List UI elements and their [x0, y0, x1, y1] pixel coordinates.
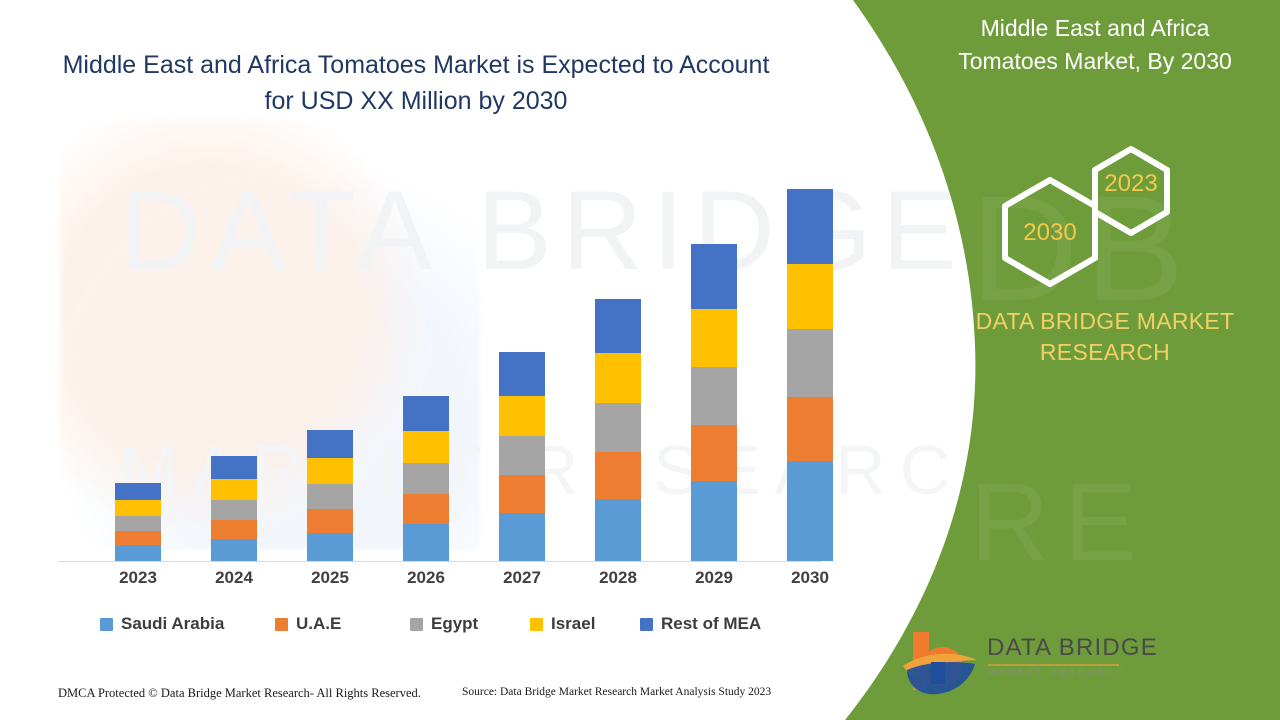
x-axis-label: 2028 [583, 568, 653, 588]
bar-column [499, 352, 545, 561]
bar-segment [211, 539, 257, 561]
bar-segment [691, 481, 737, 561]
bar-segment [403, 524, 449, 561]
bar-segment [595, 452, 641, 499]
bar-segment [307, 509, 353, 533]
legend-label: Egypt [431, 614, 478, 634]
source-note: Source: Data Bridge Market Research Mark… [462, 686, 771, 698]
chart-legend: Saudi ArabiaU.A.EEgyptIsraelRest of MEA [100, 614, 800, 642]
bar-segment [115, 516, 161, 531]
legend-label: Rest of MEA [661, 614, 761, 634]
chart-bars [40, 171, 830, 561]
bar-segment [403, 494, 449, 524]
x-axis-line [58, 561, 822, 562]
page-title: Middle East and Africa Tomatoes Market i… [60, 48, 772, 119]
legend-label: U.A.E [296, 614, 341, 634]
stacked-bar-chart: 20232024202520262027202820292030 [40, 170, 830, 562]
bar-segment [691, 425, 737, 481]
bar-segment [691, 309, 737, 367]
legend-item: Rest of MEA [640, 614, 761, 634]
bar-segment [403, 431, 449, 463]
logo-subtitle: MARKET RESEARCH [988, 667, 1121, 677]
bar-column [595, 299, 641, 561]
dmca-notice: DMCA Protected © Data Bridge Market Rese… [58, 686, 421, 701]
brand-name: DATA BRIDGE MARKET RESEARCH [950, 306, 1260, 368]
bar-segment [403, 396, 449, 431]
green-side-panel: DB RE Middle East and Africa Tomatoes Ma… [820, 0, 1280, 720]
legend-item: Israel [530, 614, 595, 634]
x-axis-label: 2029 [679, 568, 749, 588]
legend-swatch-icon [410, 618, 423, 631]
bar-segment [211, 520, 257, 539]
bar-segment [691, 367, 737, 425]
bar-segment [307, 484, 353, 509]
bar-column [211, 456, 257, 561]
bar-segment [595, 353, 641, 403]
green-panel-title: Middle East and Africa Tomatoes Market, … [930, 12, 1260, 79]
legend-swatch-icon [100, 618, 113, 631]
legend-swatch-icon [275, 618, 288, 631]
bar-column [307, 430, 353, 561]
data-bridge-logo: DATA BRIDGE MARKET RESEARCH [895, 626, 1125, 696]
bar-segment [211, 500, 257, 520]
bar-segment [115, 483, 161, 500]
bar-segment [211, 479, 257, 500]
legend-label: Saudi Arabia [121, 614, 224, 634]
x-axis-label: 2023 [103, 568, 173, 588]
bar-segment [499, 475, 545, 513]
legend-item: Egypt [410, 614, 478, 634]
bar-segment [499, 513, 545, 561]
bar-segment [307, 430, 353, 458]
bar-segment [499, 436, 545, 475]
svg-text:RE: RE [970, 461, 1151, 584]
bar-segment [691, 244, 737, 309]
bar-column [403, 396, 449, 561]
bar-segment [211, 456, 257, 479]
bar-segment [307, 533, 353, 561]
hexagon-2023-label: 2023 [1091, 170, 1171, 198]
legend-item: U.A.E [275, 614, 341, 634]
bar-segment [403, 463, 449, 494]
bar-segment [307, 458, 353, 484]
bar-segment [595, 403, 641, 452]
x-axis-labels: 20232024202520262027202820292030 [40, 568, 830, 598]
infographic-canvas: DATA BRIDGE MARKET RESEARCH Middle East … [0, 0, 1280, 720]
logo-wordmark: DATA BRIDGE [987, 634, 1158, 662]
bar-column [691, 244, 737, 561]
legend-swatch-icon [530, 618, 543, 631]
bar-segment [115, 545, 161, 561]
bar-segment [595, 499, 641, 561]
legend-item: Saudi Arabia [100, 614, 224, 634]
bar-column [115, 483, 161, 561]
bar-segment [595, 299, 641, 353]
hexagon-2030-label: 2030 [1005, 219, 1095, 247]
x-axis-label: 2026 [391, 568, 461, 588]
x-axis-label: 2024 [199, 568, 269, 588]
legend-swatch-icon [640, 618, 653, 631]
bar-segment [115, 531, 161, 545]
x-axis-label: 2025 [295, 568, 365, 588]
bar-segment [499, 396, 545, 436]
bar-segment [115, 500, 161, 516]
x-axis-label: 2027 [487, 568, 557, 588]
bar-segment [499, 352, 545, 396]
logo-divider [988, 664, 1119, 666]
legend-label: Israel [551, 614, 595, 634]
